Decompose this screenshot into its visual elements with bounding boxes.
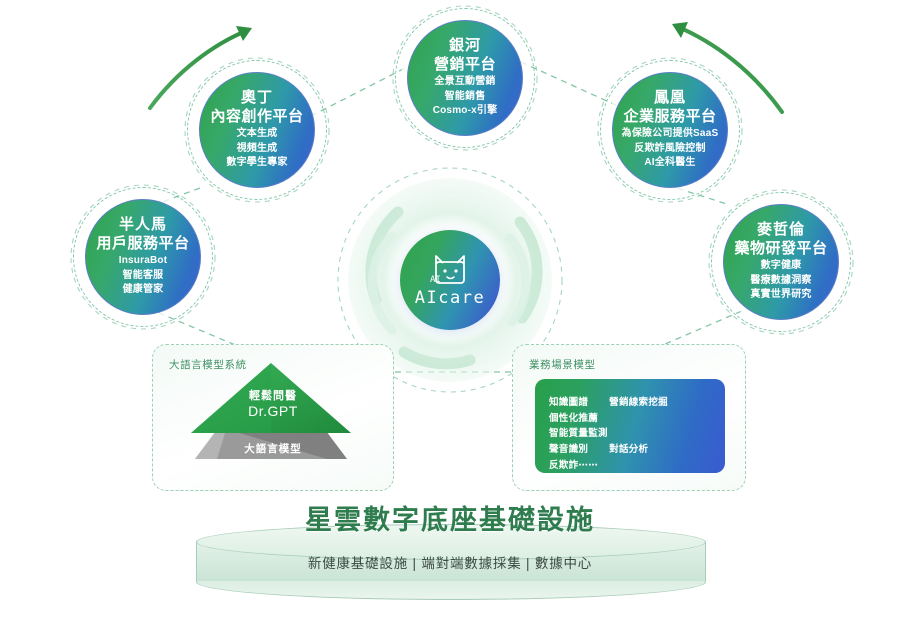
node-feature: Cosmo-x引擎 (433, 104, 498, 119)
node-feature: 視頻生成 (210, 142, 303, 157)
llm-system-card: 大語言模型系統 輕鬆問醫 Dr.GPT 大語言模型 (152, 344, 394, 491)
pyramid-top-line2: Dr.GPT (153, 403, 393, 419)
foundation-title: 星雲數字底座基礎設施 (196, 498, 704, 537)
node-platform: 內容創作平台 (210, 108, 303, 126)
node-title: 半人馬 (96, 216, 189, 234)
node-feature: 反欺詐風險控制 (622, 142, 719, 157)
business-scenario-card: 業務場景模型 知識圖譜 營銷線索挖掘 個性化推薦 智能質量監測 聲音識別 對話分… (512, 344, 746, 491)
scenario-gradient-box: 知識圖譜 營銷線索挖掘 個性化推薦 智能質量監測 聲音識別 對話分析 反欺詐⋯⋯ (535, 379, 725, 473)
scenario-item-list: 知識圖譜 營銷線索挖掘 個性化推薦 智能質量監測 聲音識別 對話分析 反欺詐⋯⋯ (549, 395, 715, 473)
node-feature: 數字學生專家 (210, 156, 303, 171)
scenario-item-b: 營銷線索挖掘 (609, 397, 668, 408)
node-platform: 藥物研發平台 (734, 240, 827, 258)
pyramid-top-line1: 輕鬆問醫 (153, 387, 393, 403)
node-feature: 醫療數據洞察 (734, 274, 827, 289)
node-text: 半人馬 用戶服務平台 InsuraBot 智能客服 健康管家 (90, 216, 195, 298)
node-feature: 智能客服 (96, 269, 189, 284)
scenario-card-caption: 業務場景模型 (529, 357, 596, 372)
foundation-platform: 星雲數字底座基礎設施 新健康基礎設施 | 端對端數據採集 | 數據中心 (196, 498, 704, 602)
node-title: 銀河 (433, 37, 498, 55)
pyramid-base-label: 大語言模型 (153, 441, 393, 456)
list-item: 聲音識別 對話分析 (549, 442, 715, 458)
node-text: 銀河 營銷平台 全景互動營銷 智能銷售 Cosmo-x引擎 (427, 37, 504, 119)
diagram-canvas: 銀河 營銷平台 全景互動營銷 智能銷售 Cosmo-x引擎 奧丁 內容創作平台 … (0, 0, 900, 627)
node-feature: AI全科醫生 (622, 156, 719, 171)
node-feature: 智能銷售 (433, 90, 498, 105)
platform-node-phoenix[interactable]: 鳳凰 企業服務平台 為保險公司提供SaaS 反欺詐風險控制 AI全科醫生 (612, 72, 728, 188)
node-title: 奧丁 (210, 89, 303, 107)
platform-node-galaxy[interactable]: 銀河 營銷平台 全景互動營銷 智能銷售 Cosmo-x引擎 (407, 20, 523, 136)
node-text: 麥哲倫 藥物研發平台 數字健康 醫療數據洞察 真實世界研究 (728, 221, 833, 303)
list-item: 個性化推薦 (549, 411, 715, 427)
hub-core: AI AIcare (400, 230, 500, 330)
foundation-subtitle: 新健康基礎設施 | 端對端數據採集 | 數據中心 (196, 552, 704, 572)
node-feature: 文本生成 (210, 127, 303, 142)
node-title: 鳳凰 (622, 89, 719, 107)
node-title: 麥哲倫 (734, 221, 827, 239)
scenario-item-b: 對話分析 (609, 444, 648, 455)
ai-cat-face-icon: AI (428, 252, 472, 286)
hub-brand-label: AIcare (415, 288, 485, 308)
node-feature: 全景互動營銷 (433, 75, 498, 90)
platform-node-centaur[interactable]: 半人馬 用戶服務平台 InsuraBot 智能客服 健康管家 (85, 199, 201, 315)
node-feature: InsuraBot (96, 254, 189, 269)
node-feature: 數字健康 (734, 259, 827, 274)
platform-node-odin[interactable]: 奧丁 內容創作平台 文本生成 視頻生成 數字學生專家 (199, 72, 315, 188)
platform-node-magellan[interactable]: 麥哲倫 藥物研發平台 數字健康 醫療數據洞察 真實世界研究 (723, 204, 839, 320)
scenario-item-a: 個性化推薦 (549, 413, 598, 424)
node-feature: 為保險公司提供SaaS (622, 127, 719, 142)
scenario-item-a: 反欺詐⋯⋯ (549, 460, 598, 471)
scenario-item-a: 聲音識別 (549, 444, 588, 455)
list-item: 知識圖譜 營銷線索挖掘 (549, 395, 715, 411)
node-feature: 健康管家 (96, 283, 189, 298)
scenario-item-a: 智能質量監測 (549, 428, 608, 439)
hub-ai-badge: AI (430, 275, 441, 285)
scenario-item-a: 知識圖譜 (549, 397, 588, 408)
node-text: 鳳凰 企業服務平台 為保險公司提供SaaS 反欺詐風險控制 AI全科醫生 (616, 89, 725, 171)
list-item: 反欺詐⋯⋯ (549, 458, 715, 474)
node-text: 奧丁 內容創作平台 文本生成 視頻生成 數字學生專家 (204, 89, 309, 171)
node-feature: 真實世界研究 (734, 288, 827, 303)
list-item: 智能質量監測 (549, 426, 715, 442)
node-platform: 企業服務平台 (622, 108, 719, 126)
node-platform: 用戶服務平台 (96, 235, 189, 253)
node-platform: 營銷平台 (433, 56, 498, 74)
